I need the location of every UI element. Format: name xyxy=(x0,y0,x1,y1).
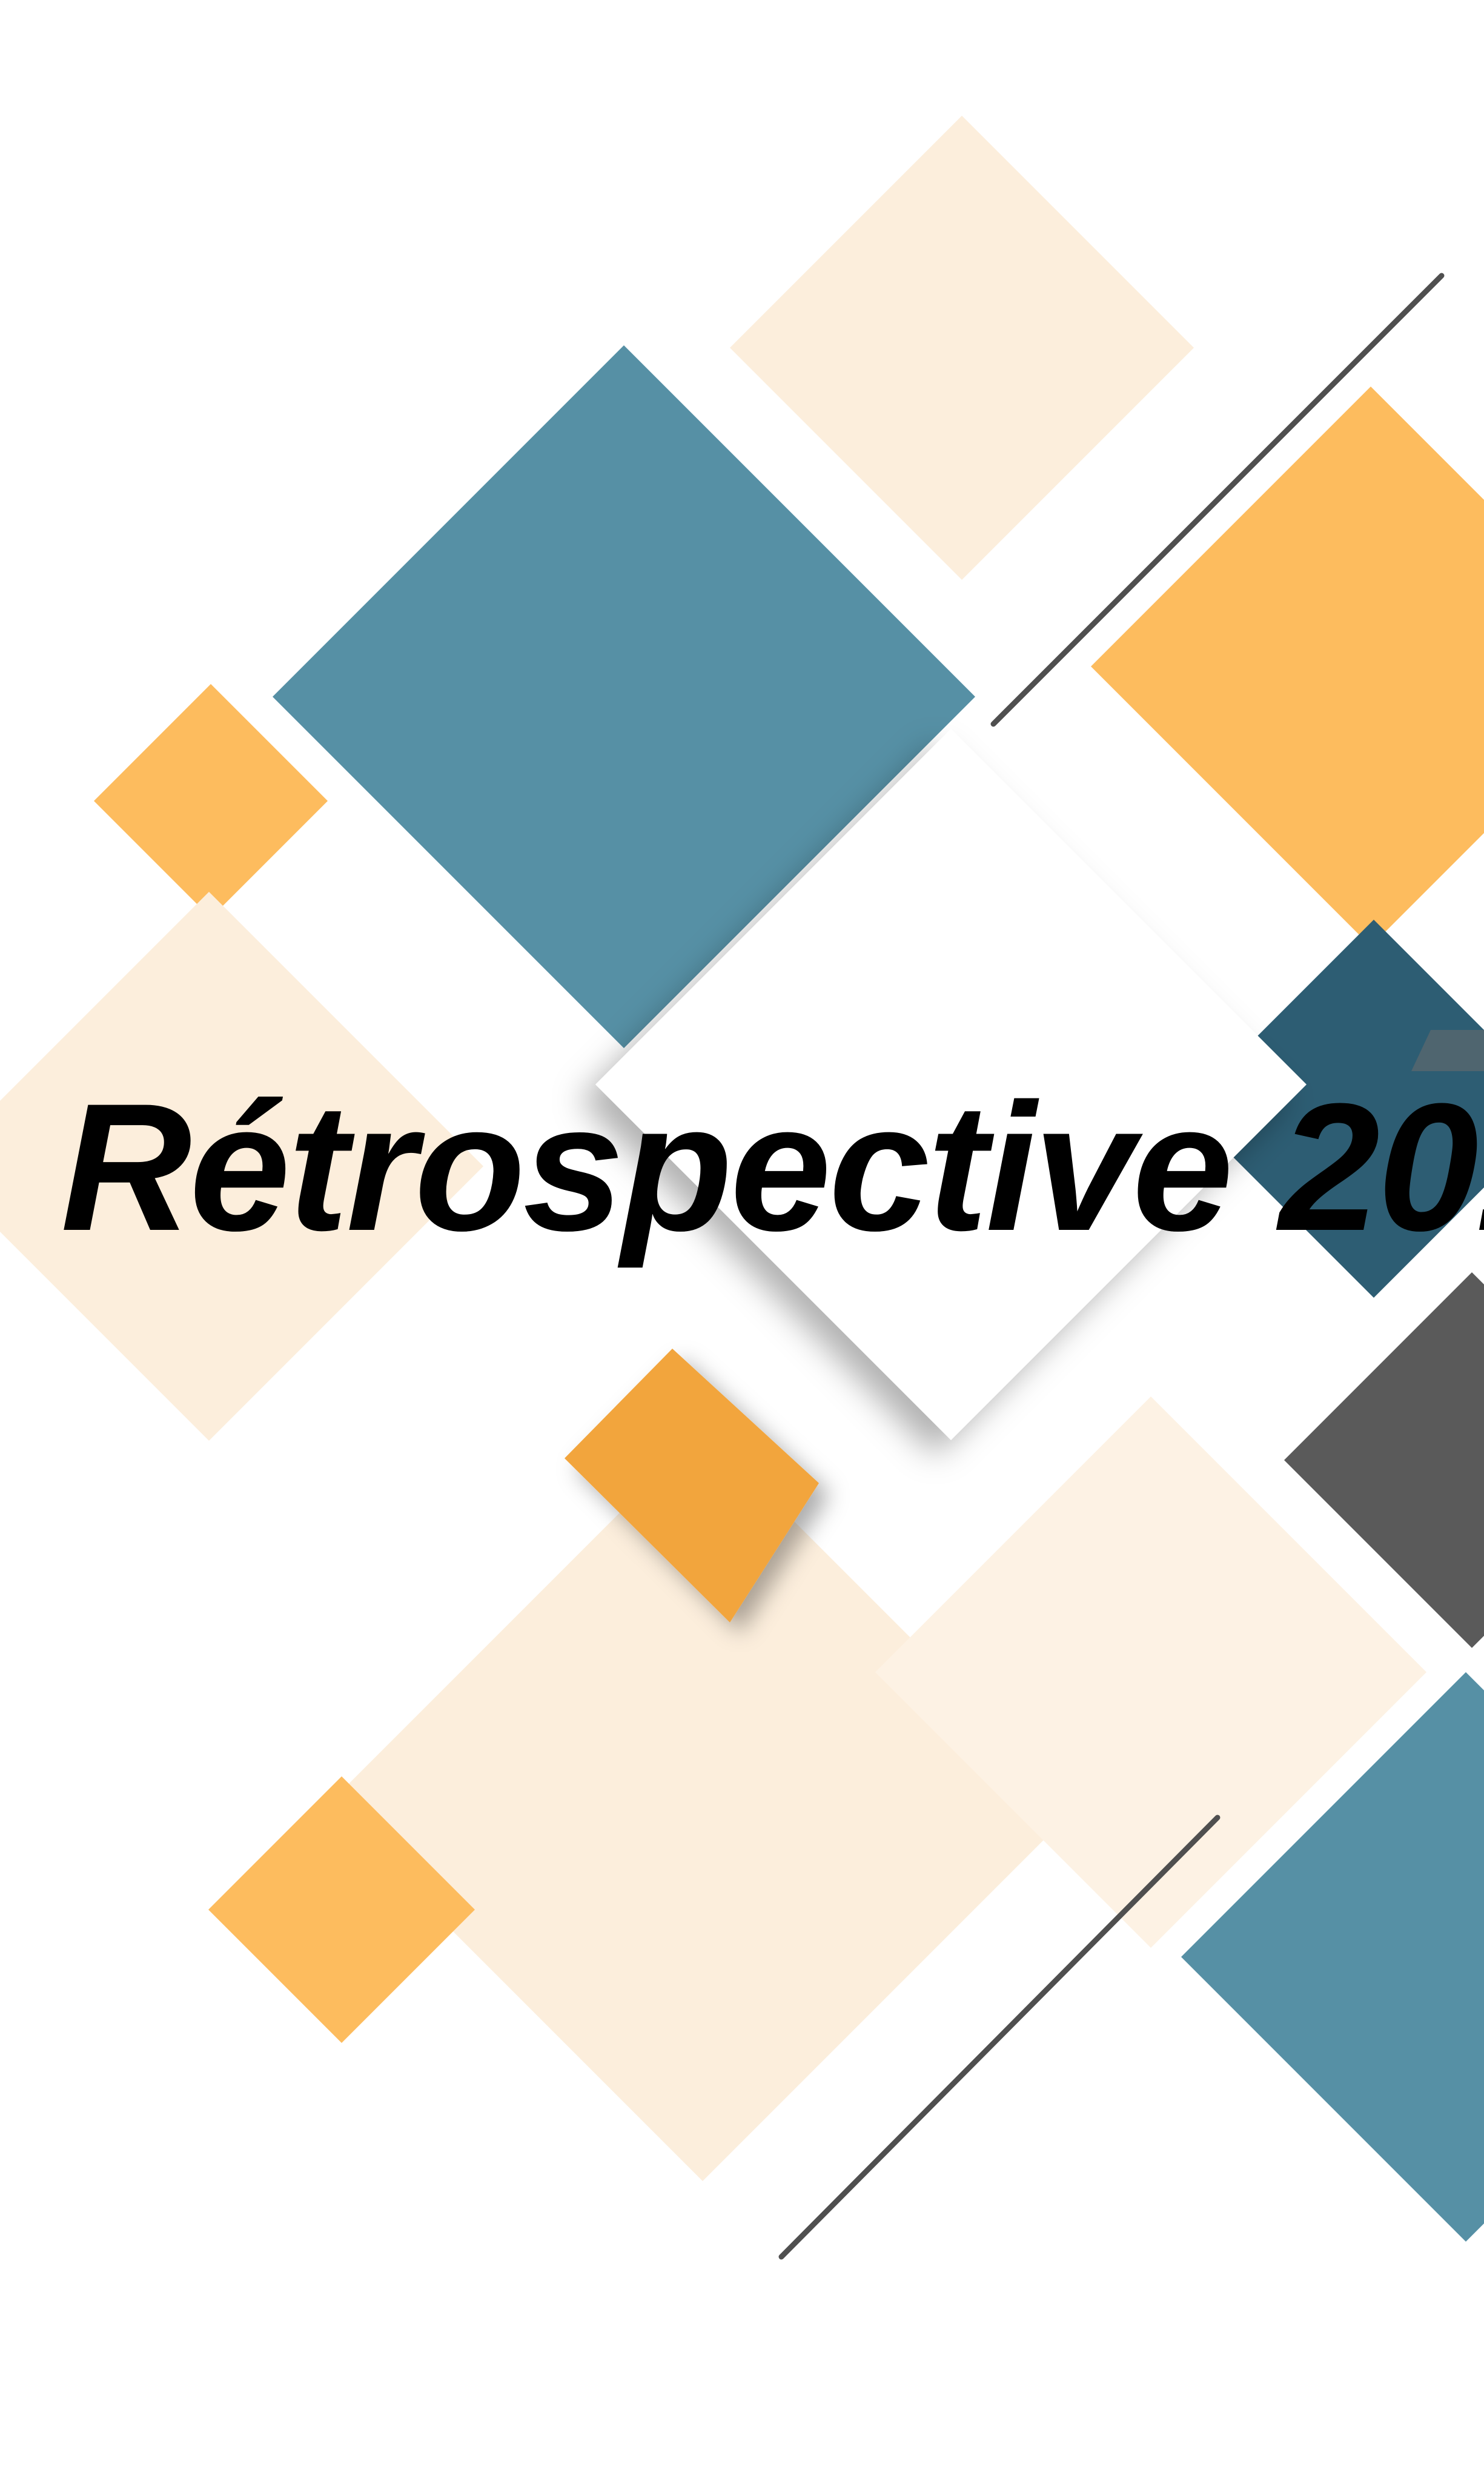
decorative-geometric-artwork: Rétrospective 2019 xyxy=(0,0,1484,2484)
page-title: Rétrospective 2019 xyxy=(61,1065,1484,1270)
slide-canvas: Rétrospective 2019 xyxy=(0,0,1484,2484)
